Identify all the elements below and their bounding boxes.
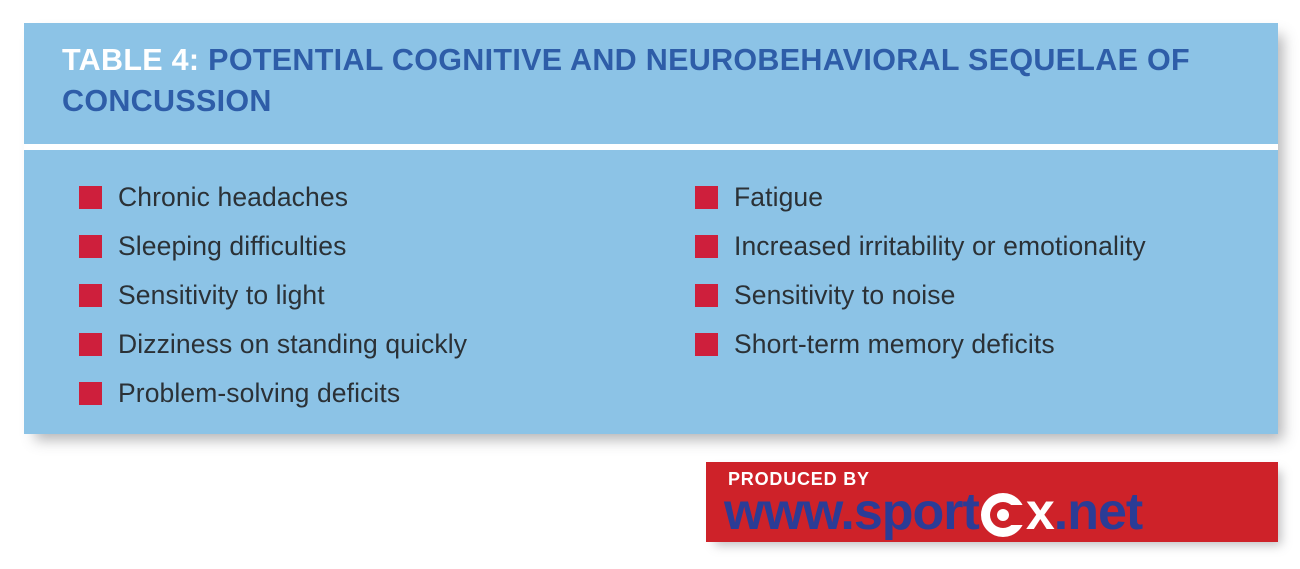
square-bullet-icon [79, 186, 102, 209]
sportex-wordmark: www.sport x.net [724, 486, 1142, 538]
list-item-label: Short-term memory deficits [734, 329, 1055, 359]
list-item: Dizziness on standing quickly [79, 319, 649, 368]
square-bullet-icon [79, 235, 102, 258]
sportex-e-ring-icon [981, 493, 1025, 537]
ring-gap [1011, 505, 1026, 525]
list-item: Fatigue [695, 172, 1278, 221]
list-item-label: Dizziness on standing quickly [118, 329, 467, 359]
table-card: TABLE 4: POTENTIAL COGNITIVE AND NEUROBE… [24, 23, 1278, 434]
list-item-label: Fatigue [734, 182, 823, 212]
list-item: Sensitivity to noise [695, 270, 1278, 319]
bullet-column-left: Chronic headaches Sleeping difficulties … [24, 172, 649, 434]
table-title-text: POTENTIAL COGNITIVE AND NEUROBEHAVIORAL … [62, 43, 1190, 118]
list-item-label: Sensitivity to light [118, 280, 325, 310]
list-item: Sensitivity to light [79, 270, 649, 319]
square-bullet-icon [695, 333, 718, 356]
list-item-label: Problem-solving deficits [118, 378, 400, 408]
list-item-label: Sleeping difficulties [118, 231, 346, 261]
list-item-label: Chronic headaches [118, 182, 348, 212]
square-bullet-icon [695, 235, 718, 258]
wordmark-prefix: www.sport [724, 486, 979, 538]
table-number-label: TABLE 4: [62, 43, 199, 77]
wordmark-suffix: .net [1054, 486, 1142, 538]
list-item: Problem-solving deficits [79, 368, 649, 417]
list-item: Short-term memory deficits [695, 319, 1278, 368]
list-item-label: Increased irritability or emotionality [734, 231, 1146, 261]
wordmark-x: x [1026, 486, 1054, 538]
ring-center-dot [997, 509, 1009, 521]
list-item: Sleeping difficulties [79, 221, 649, 270]
table-body: Chronic headaches Sleeping difficulties … [24, 150, 1278, 434]
produced-by-logo-banner[interactable]: PRODUCED BY www.sport x.net [706, 462, 1278, 542]
square-bullet-icon [695, 186, 718, 209]
list-item: Increased irritability or emotionality [695, 221, 1278, 270]
square-bullet-icon [79, 333, 102, 356]
list-item-label: Sensitivity to noise [734, 280, 955, 310]
square-bullet-icon [79, 382, 102, 405]
table-header: TABLE 4: POTENTIAL COGNITIVE AND NEUROBE… [24, 23, 1278, 144]
square-bullet-icon [695, 284, 718, 307]
square-bullet-icon [79, 284, 102, 307]
page-title: TABLE 4: POTENTIAL COGNITIVE AND NEUROBE… [62, 40, 1240, 122]
list-item: Chronic headaches [79, 172, 649, 221]
bullet-column-right: Fatigue Increased irritability or emotio… [649, 172, 1278, 434]
